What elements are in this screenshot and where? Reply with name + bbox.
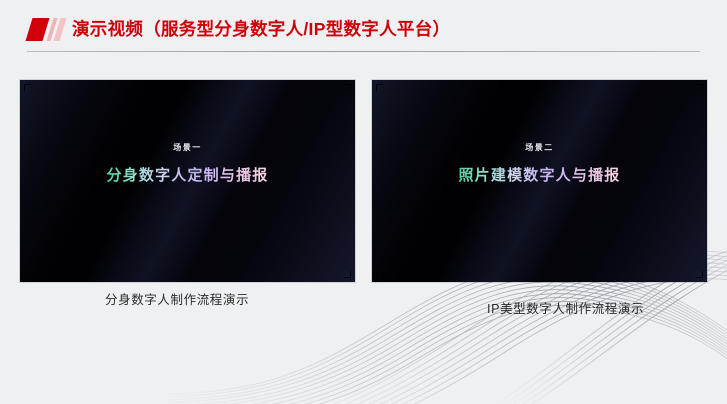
corner-bracket-top-left [24,84,31,91]
corner-bracket-bottom-right [344,271,351,278]
video-caption-scene-1: 分身数字人制作流程演示 [105,289,249,308]
scene-label: 场景一 [20,142,355,153]
corner-bracket-top-right [696,84,703,91]
video-caption-scene-2: IP美型数字人制作流程演示 [487,298,644,317]
page-title: 演示视频（服务型分身数字人/IP型数字人平台） [72,17,450,41]
scene-headline: 分身数字人定制与播报 [106,166,268,186]
page-header: 演示视频（服务型分身数字人/IP型数字人平台） [0,0,727,62]
video-thumbnail-scene-2[interactable]: 场景二 照片建模数字人与播报 [372,80,707,282]
slanted-bars-icon [27,18,67,41]
slanted-bar-primary [25,18,49,41]
corner-bracket-top-right [344,84,351,91]
corner-bracket-bottom-left [24,271,31,278]
corner-bracket-bottom-right [696,271,703,278]
corner-bracket-top-left [376,84,383,91]
scene-label: 场景二 [372,142,707,153]
scene-headline: 照片建模数字人与播报 [458,166,620,186]
corner-bracket-bottom-left [376,271,383,278]
title-divider [27,51,700,52]
video-title-block: 场景一 分身数字人定制与播报 [20,142,355,186]
video-thumbnail-scene-1[interactable]: 场景一 分身数字人定制与播报 [20,80,355,282]
video-title-block: 场景二 照片建模数字人与播报 [372,142,707,186]
